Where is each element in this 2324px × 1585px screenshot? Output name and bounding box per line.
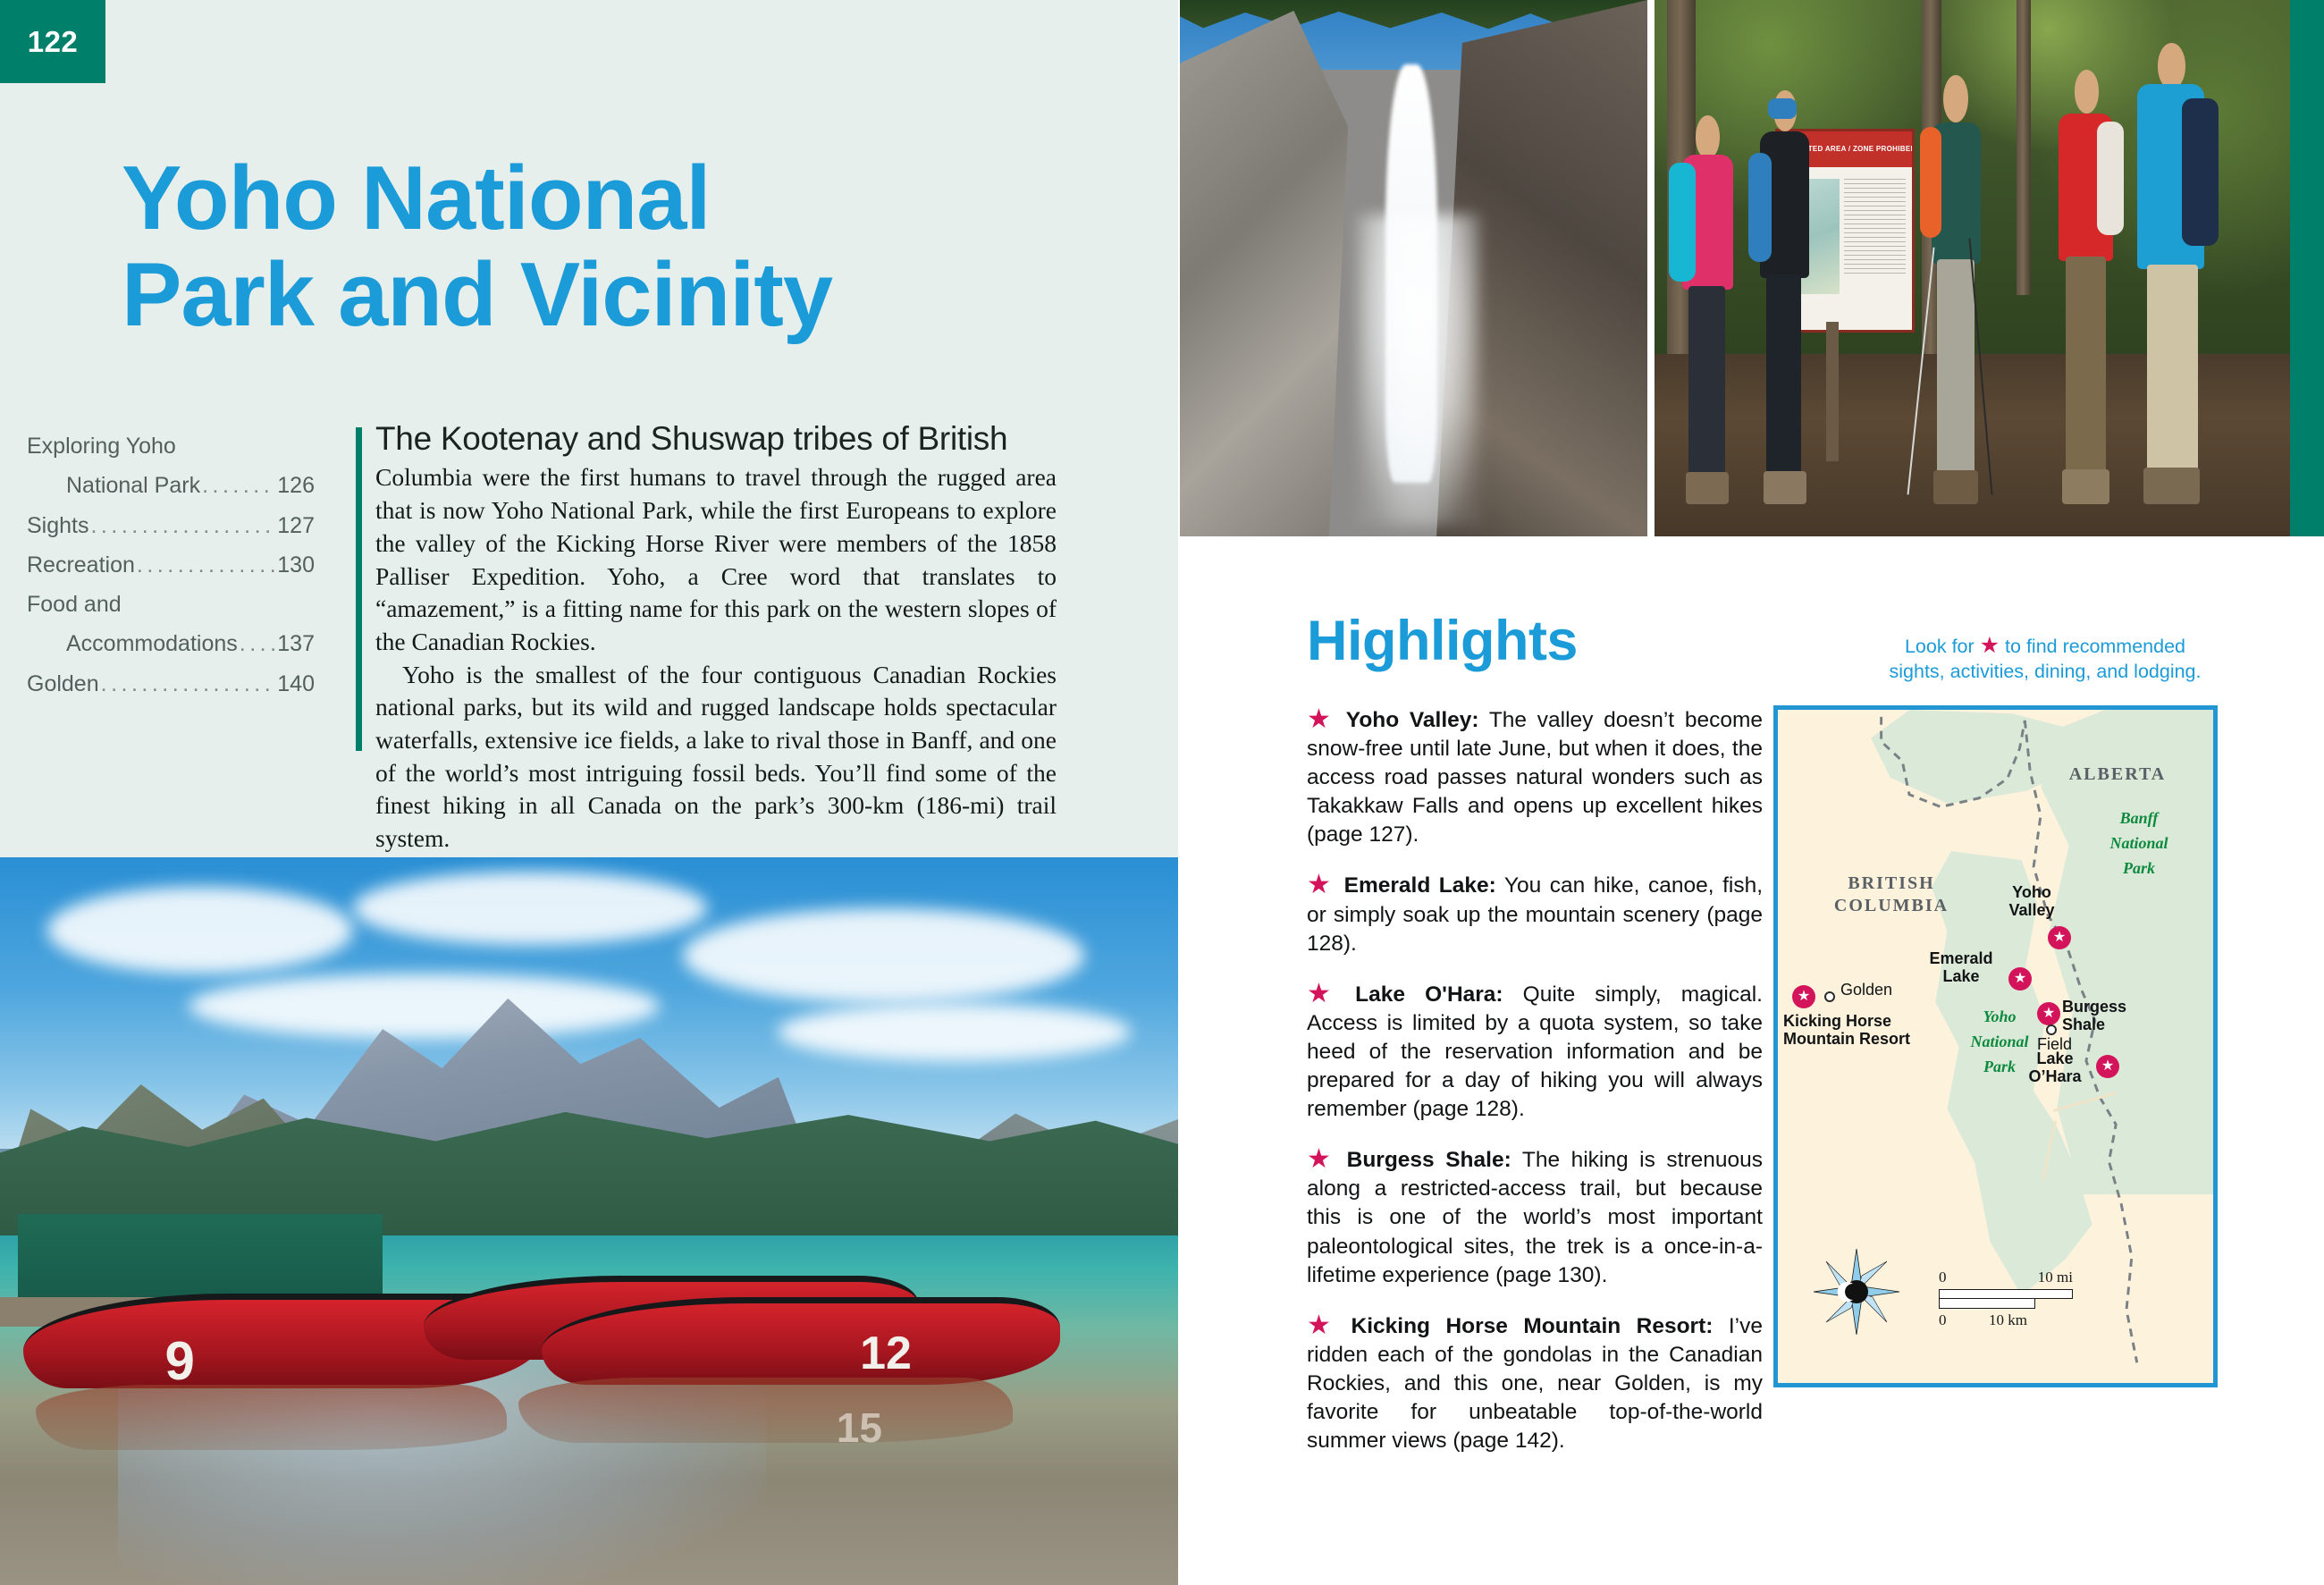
map-label-golden: Golden xyxy=(1840,981,1892,999)
hiker-head xyxy=(1943,75,1968,122)
table-of-contents: Exploring Yoho..........................… xyxy=(27,426,315,704)
map-star-yoho-valley[interactable]: ★ xyxy=(2048,926,2071,949)
hiker-figure xyxy=(2125,43,2227,504)
canoe xyxy=(542,1297,1060,1385)
toc-entry[interactable]: Food and................................… xyxy=(27,585,315,624)
toc-entry[interactable]: Recreation..............................… xyxy=(27,545,315,585)
highlight-item[interactable]: ★Burgess Shale: The hiking is strenuous … xyxy=(1307,1146,1763,1289)
toc-entry-label: National Park xyxy=(66,466,200,505)
toc-leader-dots: ........................................… xyxy=(137,545,275,585)
canoe-reflection xyxy=(36,1385,507,1450)
page-number-badge: 122 xyxy=(0,0,105,83)
hiker-boots xyxy=(1764,471,1806,504)
star-icon: ★ xyxy=(1307,979,1344,1008)
star-note-line-2: sights, activities, dining, and lodging. xyxy=(1852,660,2238,685)
hiker-pants xyxy=(1688,286,1725,476)
highlight-item-name: Burgess Shale: xyxy=(1347,1148,1511,1172)
highlight-item[interactable]: ★Lake O'Hara: Quite simply, magical. Acc… xyxy=(1307,981,1763,1124)
cloud-shape xyxy=(189,974,660,1039)
guidebook-page: 122 Yoho National Park and Vicinity Expl… xyxy=(0,0,2324,1585)
canoe-number: 12 xyxy=(860,1327,912,1380)
star-note-line-1: Look for ★ to find recommended xyxy=(1852,631,2238,660)
sign-body-text-lines xyxy=(1844,179,1906,274)
sign-post xyxy=(1826,322,1839,461)
highlight-item[interactable]: ★Emerald Lake: You can hike, canoe, fish… xyxy=(1307,872,1763,957)
scale-mi-max: 10 mi xyxy=(2038,1269,2073,1286)
hiker-backpack xyxy=(1669,163,1696,282)
compass-rose-icon xyxy=(1812,1247,1901,1336)
hiker-figure xyxy=(1744,86,1826,504)
hiker-figure xyxy=(1667,107,1749,504)
hiker-pants xyxy=(1766,274,1801,476)
hiker-headband xyxy=(1768,98,1796,119)
region-map[interactable]: BRITISHCOLUMBIA ALBERTA BanffNationalPar… xyxy=(1773,705,2218,1387)
toc-entry-page-number: 137 xyxy=(277,624,315,663)
hiker-backpack xyxy=(2097,122,2124,234)
map-star-kicking-horse-mountain-resort[interactable]: ★ xyxy=(1792,985,1815,1008)
intro-text-block: The Kootenay and Shuswap tribes of Briti… xyxy=(375,420,1057,856)
star-legend-note: Look for ★ to find recommendedsights, ac… xyxy=(1852,631,2238,685)
star-icon: ★ xyxy=(1307,1144,1336,1174)
toc-entry[interactable]: Exploring Yoho..........................… xyxy=(27,426,315,466)
hiker-boots xyxy=(1686,472,1729,504)
left-panel: 122 Yoho National Park and Vicinity Expl… xyxy=(0,0,1178,857)
map-label-alberta: ALBERTA xyxy=(2046,763,2189,786)
highlight-item-name: Yoho Valley: xyxy=(1346,708,1479,732)
hiker-head xyxy=(2158,43,2186,89)
toc-entry[interactable]: Sights..................................… xyxy=(27,506,315,545)
scale-labels-miles: 0 10 mi xyxy=(1939,1269,2073,1286)
star-note-text-after: to find recommended xyxy=(2000,636,2185,657)
toc-entry-label: Golden xyxy=(27,664,99,704)
chapter-title-line-1: Yoho National xyxy=(122,150,1069,247)
intro-paragraph-1: Columbia were the first humans to travel… xyxy=(375,461,1057,658)
photo-takakkaw-falls xyxy=(1180,0,1647,536)
intro-lead-line: The Kootenay and Shuswap tribes of Briti… xyxy=(375,420,1057,457)
scale-km-max: 10 km xyxy=(1989,1311,2027,1329)
star-icon: ★ xyxy=(1307,1311,1341,1340)
hiker-figure xyxy=(2042,70,2132,504)
highlight-item-name: Emerald Lake: xyxy=(1344,873,1496,898)
cloud-shape xyxy=(47,887,354,974)
hiker-boots xyxy=(2143,468,2201,504)
cloud-shape xyxy=(778,1003,1131,1061)
hiker-backpack xyxy=(1920,127,1941,239)
intro-paragraph-2: Yoho is the smallest of the four contigu… xyxy=(375,659,1057,856)
scale-mi-zero: 0 xyxy=(1939,1269,1947,1286)
toc-leader-dots: ........................................… xyxy=(202,466,275,505)
page-title: Yoho National Park and Vicinity xyxy=(122,150,1069,343)
toc-entry-label: Exploring Yoho xyxy=(27,426,176,466)
toc-entry-label: Sights xyxy=(27,506,88,545)
highlights-list: ★Yoho Valley: The valley doesn’t become … xyxy=(1307,706,1763,1478)
waterfall-spray xyxy=(1358,215,1479,526)
cloud-shape xyxy=(353,872,706,944)
scale-bar-miles xyxy=(1939,1289,2073,1299)
map-label-burgess-shale: BurgessShale xyxy=(2062,998,2148,1033)
scale-bar-km xyxy=(1939,1299,2035,1309)
canoe-reflection xyxy=(518,1378,1014,1443)
hiker-backpack xyxy=(2182,98,2219,246)
toc-leader-dots: ........................................… xyxy=(90,506,275,545)
map-dot-golden xyxy=(1824,991,1835,1002)
hiker-backpack xyxy=(1748,153,1772,262)
hiker-boots xyxy=(1933,470,1978,504)
toc-entry-page-number: 127 xyxy=(277,506,315,545)
teal-edge-band xyxy=(2290,0,2324,536)
map-label-banff-national-park: BanffNationalPark xyxy=(2085,806,2193,881)
highlight-item[interactable]: ★Kicking Horse Mountain Resort: I’ve rid… xyxy=(1307,1312,1763,1455)
hiker-pants xyxy=(2147,265,2198,472)
star-icon: ★ xyxy=(1307,870,1334,899)
highlight-item[interactable]: ★Yoho Valley: The valley doesn’t become … xyxy=(1307,706,1763,849)
map-label-yoho-valley: YohoValley xyxy=(1985,883,2078,919)
toc-entry-page-number: 140 xyxy=(277,664,315,704)
chapter-title-line-2: Park and Vicinity xyxy=(122,247,1069,343)
map-label-kicking-horse-mountain-resort: Kicking HorseMountain Resort xyxy=(1783,1012,1953,1048)
scale-km-zero: 0 xyxy=(1939,1311,1947,1329)
toc-entry-label: Recreation xyxy=(27,545,135,585)
map-star-emerald-lake[interactable]: ★ xyxy=(2008,967,2032,991)
cloud-shape xyxy=(683,908,1083,1003)
hiker-pants xyxy=(2066,257,2107,474)
toc-entry[interactable]: Golden..................................… xyxy=(27,664,315,704)
star-icon: ★ xyxy=(1980,633,2000,658)
map-label-british-columbia: BRITISHCOLUMBIA xyxy=(1815,873,1967,917)
canoe-number-reflection: 15 xyxy=(837,1404,882,1452)
scale-labels-km: 0 10 km xyxy=(1939,1311,2073,1329)
hiker-figure-center xyxy=(1916,75,1998,504)
star-icon: ★ xyxy=(1307,704,1335,734)
toc-leader-dots: ........................................… xyxy=(101,664,276,704)
hiker-boots xyxy=(2062,469,2110,504)
toc-entry[interactable]: Accommodations..........................… xyxy=(27,624,315,663)
map-star-lake-ohara[interactable]: ★ xyxy=(2096,1055,2119,1078)
map-dot-field xyxy=(2046,1024,2057,1035)
map-scale-bar: 0 10 mi 0 10 km xyxy=(1939,1269,2073,1329)
highlight-item-name: Kicking Horse Mountain Resort: xyxy=(1351,1314,1714,1338)
photo-emerald-lake-canoes: 9 12 15 xyxy=(0,857,1178,1585)
highlight-item-name: Lake O'Hara: xyxy=(1355,982,1503,1007)
tree-trunk xyxy=(2017,0,2031,295)
toc-entry[interactable]: National Park...........................… xyxy=(27,466,315,505)
toc-entry-page-number: 126 xyxy=(277,466,315,505)
map-star-burgess-shale[interactable]: ★ xyxy=(2037,1002,2060,1025)
star-note-text-before: Look for xyxy=(1905,636,1980,657)
map-label-emerald-lake: EmeraldLake xyxy=(1912,949,2010,985)
highlights-heading: Highlights xyxy=(1307,609,1578,673)
map-label-lake-ohara: LakeO’Hara xyxy=(2012,1050,2098,1085)
hiker-head xyxy=(1696,115,1721,159)
toc-entry-label: Food and xyxy=(27,585,122,624)
hiker-pants xyxy=(1937,259,1975,474)
toc-entry-label: Accommodations xyxy=(66,624,238,663)
toc-leader-dots: ........................................… xyxy=(240,624,276,663)
canoe-number: 9 xyxy=(165,1330,195,1392)
intro-divider-rule xyxy=(356,427,362,751)
hiker-head xyxy=(2075,70,2100,114)
photo-hikers-at-trailhead: RESTRICTED AREA / ZONE PROHIBEE xyxy=(1655,0,2290,536)
toc-entry-page-number: 130 xyxy=(277,545,315,585)
